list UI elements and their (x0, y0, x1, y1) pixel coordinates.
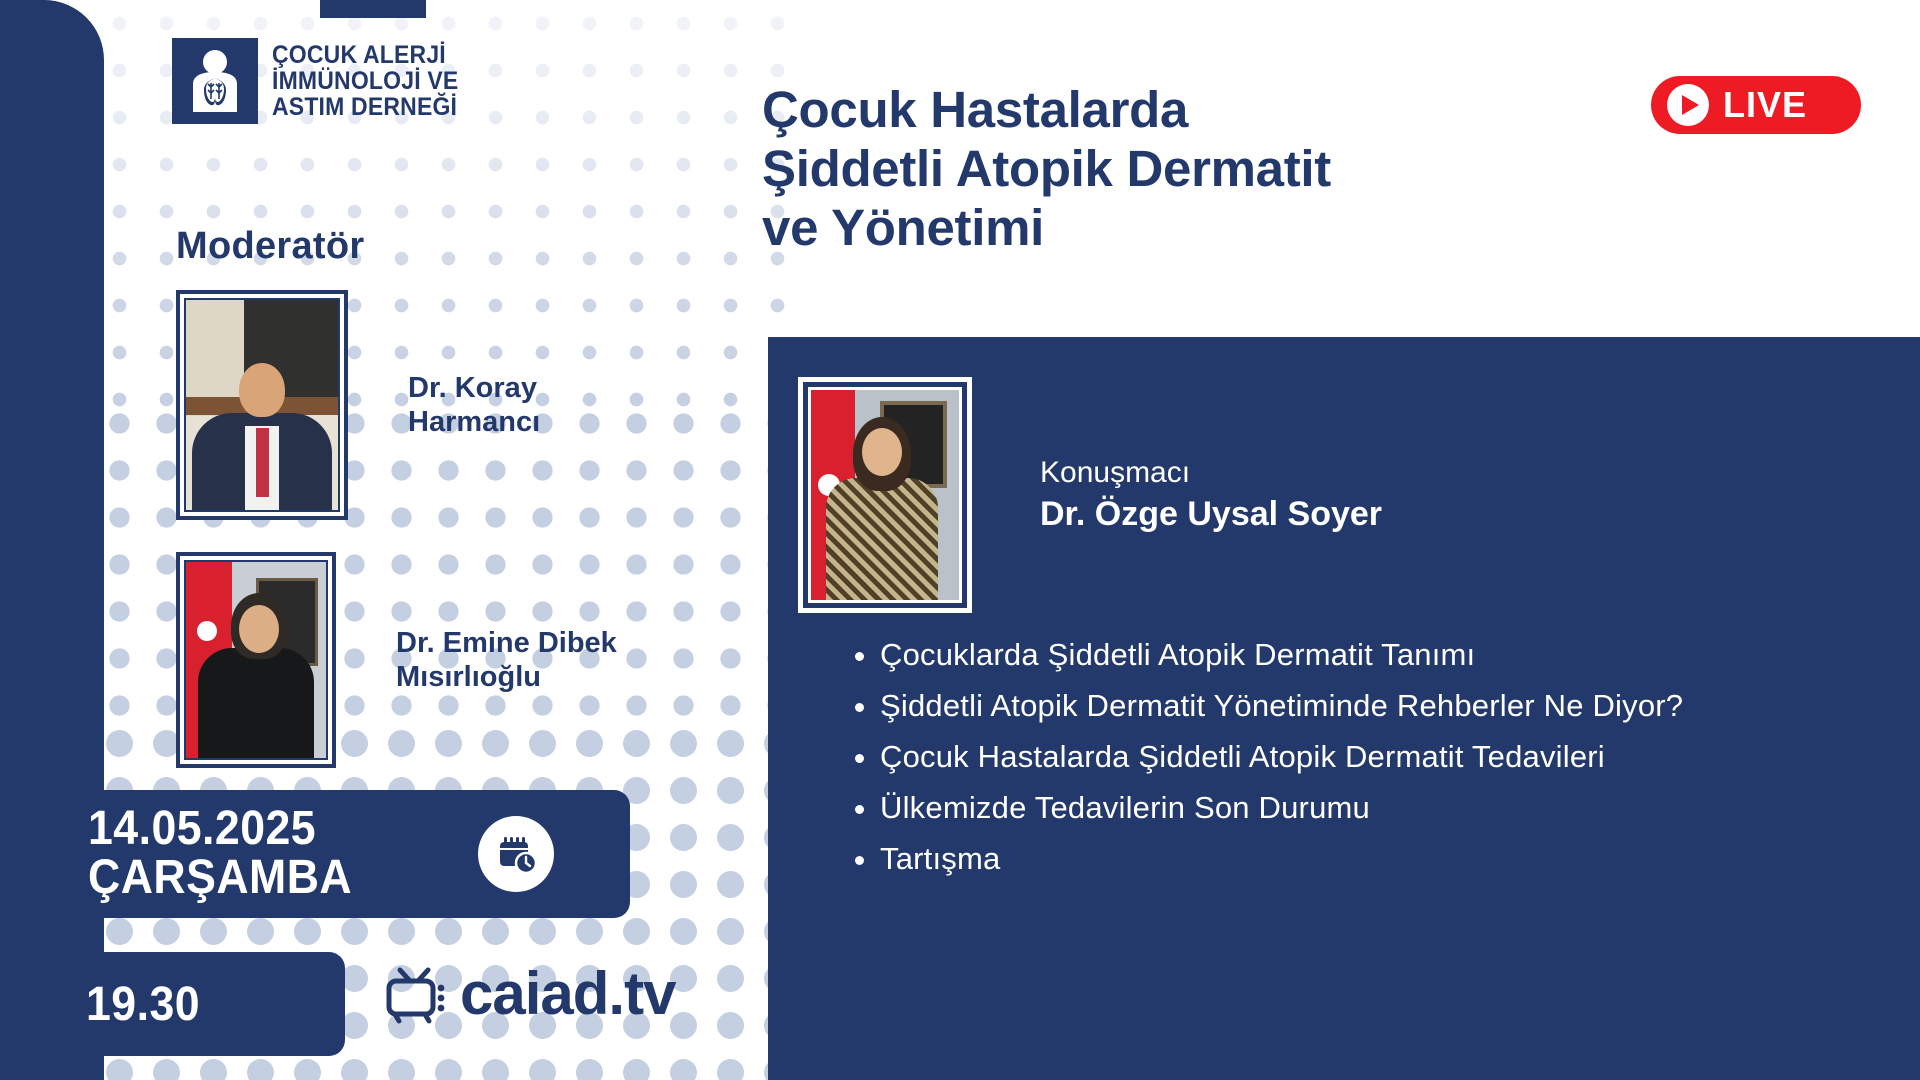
live-badge[interactable]: LIVE (1651, 76, 1861, 134)
speaker-photo-ozge-uysal-soyer (808, 387, 962, 603)
moderator-photo-frame-1 (176, 290, 348, 520)
association-name: ÇOCUK ALERJİ İMMÜNOLOJİ VE ASTIM DERNEĞİ (272, 42, 458, 121)
moderator-name-2: Dr. Emine Dibek Mısırlıoğlu (396, 626, 617, 694)
speaker-photo-frame (798, 377, 972, 613)
broadcast-channel[interactable]: caiad.tv (382, 958, 675, 1029)
moderator-photo-emine-dibek-misirlioglu (184, 560, 328, 760)
list-item: Ülkemizde Tedavilerin Son Durumu (880, 788, 1910, 829)
webinar-poster: ÇOCUK ALERJİ İMMÜNOLOJİ VE ASTIM DERNEĞİ… (0, 0, 1920, 1080)
list-item: Çocuklarda Şiddetli Atopik Dermatit Tanı… (880, 635, 1910, 676)
event-time: 19.30 (86, 977, 200, 1032)
moderator-heading: Moderatör (176, 225, 365, 268)
date-banner: 14.05.2025 ÇARŞAMBA (0, 790, 630, 918)
list-item: Tartışma (880, 839, 1910, 880)
left-accent-bar (0, 0, 104, 1080)
child-lungs-icon (172, 38, 258, 124)
top-accent-tab (320, 0, 426, 18)
moderator-entry-1: Dr. Koray Harmancı (176, 290, 540, 520)
event-date: 14.05.2025 ÇARŞAMBA (88, 805, 352, 903)
tv-icon (382, 958, 450, 1029)
site-label: caiad.tv (460, 959, 675, 1028)
moderator-photo-frame-2 (176, 552, 336, 768)
speaker-entry: Konuşmacı Dr. Özge Uysal Soyer (798, 377, 1382, 613)
calendar-clock-icon (478, 816, 554, 892)
speaker-name: Dr. Özge Uysal Soyer (1040, 492, 1382, 536)
list-item: Şiddetli Atopik Dermatit Yönetiminde Reh… (880, 686, 1910, 727)
topic-list: Çocuklarda Şiddetli Atopik Dermatit Tanı… (846, 635, 1910, 890)
speaker-role-label: Konuşmacı (1040, 453, 1382, 492)
moderator-photo-koray-harmanci (184, 298, 340, 512)
list-item: Çocuk Hastalarda Şiddetli Atopik Dermati… (880, 737, 1910, 778)
time-banner: 19.30 (0, 952, 345, 1056)
content-panel: Konuşmacı Dr. Özge Uysal Soyer Çocuklard… (768, 337, 1920, 1080)
live-label: LIVE (1723, 84, 1807, 126)
association-logo: ÇOCUK ALERJİ İMMÜNOLOJİ VE ASTIM DERNEĞİ (172, 38, 475, 124)
page-title: Çocuk Hastalarda Şiddetli Atopik Dermati… (762, 80, 1642, 257)
moderator-name-1: Dr. Koray Harmancı (408, 371, 540, 439)
play-icon (1667, 84, 1709, 126)
moderator-entry-2: Dr. Emine Dibek Mısırlıoğlu (176, 552, 617, 768)
